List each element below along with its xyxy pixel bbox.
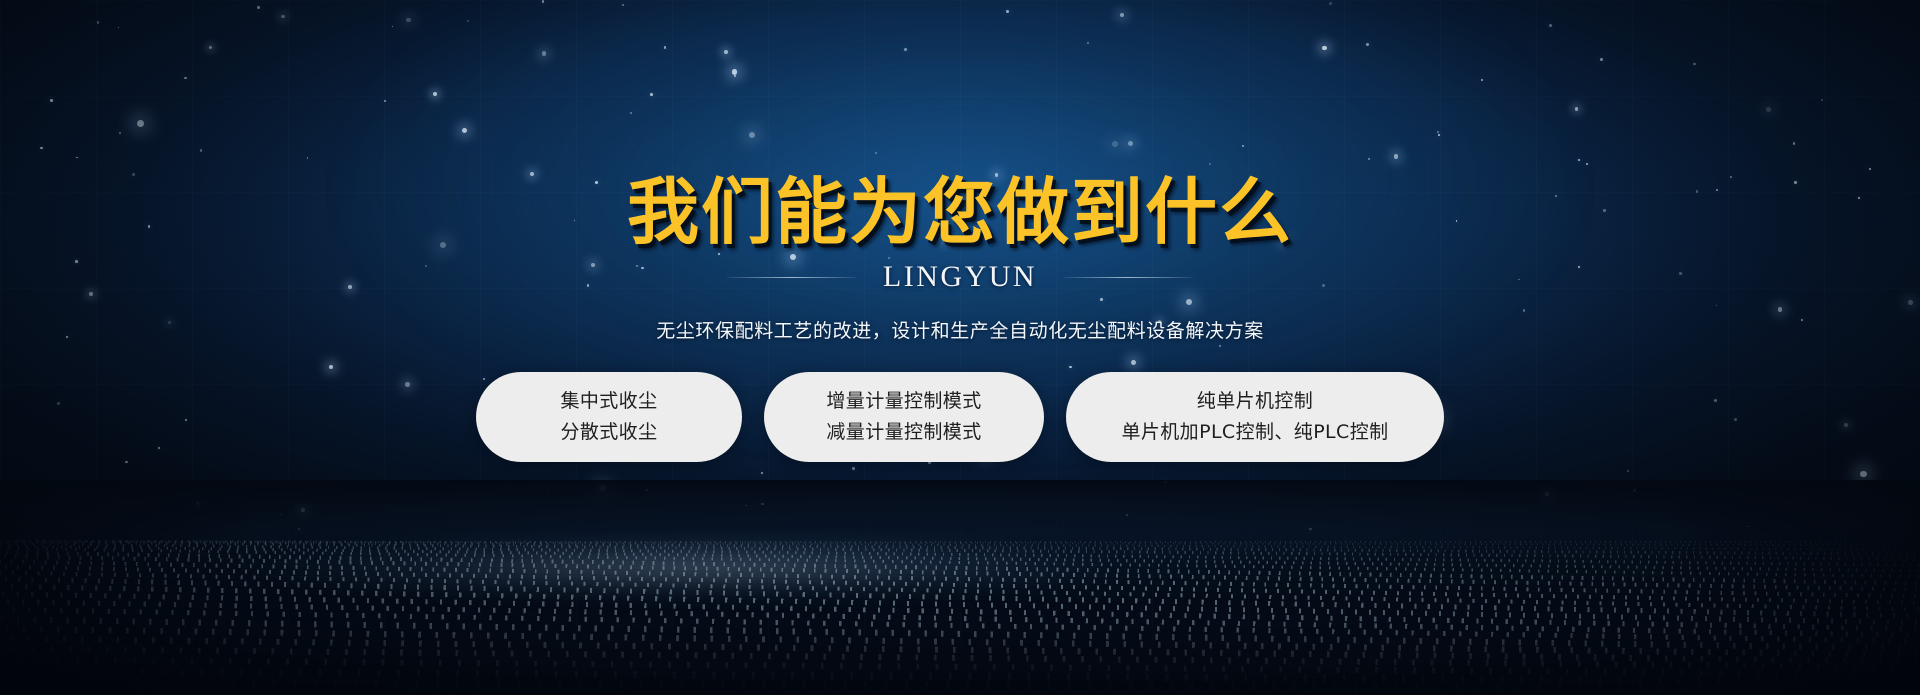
wave-right-fade <box>1660 480 1920 695</box>
wave-dot-band <box>0 568 1920 614</box>
wave-dot-band <box>0 582 1920 628</box>
hero-description: 无尘环保配料工艺的改进，设计和生产全自动化无尘配料设备解决方案 <box>0 316 1920 343</box>
wave-dot-band <box>0 545 1920 580</box>
wave-crest-glow <box>269 538 1114 598</box>
feature-pill-controller-type[interactable]: 纯单片机控制 单片机加PLC控制、纯PLC控制 <box>1066 372 1444 462</box>
brand-subtitle: LINGYUN <box>883 260 1037 294</box>
wave-dot-band <box>0 539 1920 561</box>
wave-dot-band <box>0 667 1920 685</box>
wave-dot-band <box>0 644 1920 671</box>
wave-dot-band <box>0 543 1920 574</box>
page-title: 我们能为您做到什么 <box>0 0 1920 248</box>
pill-line-1: 集中式收尘 <box>560 391 657 413</box>
wave-dot-band <box>0 563 1920 608</box>
wave-dot-band <box>0 656 1920 679</box>
wave-dot-band <box>0 541 1920 568</box>
wave-left-fade <box>0 480 260 695</box>
pill-line-1: 增量计量控制模式 <box>826 391 981 413</box>
wave-dot-band <box>0 690 1920 695</box>
wave-dot-band <box>0 574 1920 620</box>
wave-dot-band <box>0 679 1920 693</box>
wave-dot-band <box>0 539 1920 546</box>
pill-line-2: 单片机加PLC控制、纯PLC控制 <box>1121 422 1388 444</box>
wave-dot-band <box>0 541 1920 543</box>
hero-content: 我们能为您做到什么 LINGYUN 无尘环保配料工艺的改进，设计和生产全自动化无… <box>0 0 1920 462</box>
wave-dot-band <box>0 552 1920 593</box>
wave-bottom-fade <box>0 625 1920 695</box>
feature-pill-row: 集中式收尘 分散式收尘 增量计量控制模式 减量计量控制模式 纯单片机控制 单片机… <box>0 372 1920 462</box>
wave-dot-band <box>0 549 1920 587</box>
divider-left <box>727 277 857 278</box>
wave-dot-band <box>0 624 1920 659</box>
hero-banner: 我们能为您做到什么 LINGYUN 无尘环保配料工艺的改进，设计和生产全自动化无… <box>0 0 1920 695</box>
pill-line-1: 纯单片机控制 <box>1197 391 1313 413</box>
wave-dot-band <box>0 589 1920 633</box>
wave-dot-band <box>0 634 1920 666</box>
wave-dot-band <box>0 539 1920 552</box>
wave-dot-band <box>0 538 1920 556</box>
wave-dot-band <box>0 605 1920 646</box>
subtitle-row: LINGYUN <box>0 260 1920 294</box>
divider-right <box>1063 277 1193 278</box>
wave-haze <box>0 480 1920 600</box>
dotted-wave-grid <box>0 480 1920 695</box>
wave-dot-band <box>0 615 1920 653</box>
feature-pill-dust-collection[interactable]: 集中式收尘 分散式收尘 <box>476 372 742 462</box>
wave-dot-band <box>0 597 1920 640</box>
wave-dot-band <box>0 557 1920 600</box>
pill-line-2: 分散式收尘 <box>560 422 657 444</box>
feature-pill-metering-control[interactable]: 增量计量控制模式 减量计量控制模式 <box>764 372 1044 462</box>
pill-line-2: 减量计量控制模式 <box>826 422 981 444</box>
